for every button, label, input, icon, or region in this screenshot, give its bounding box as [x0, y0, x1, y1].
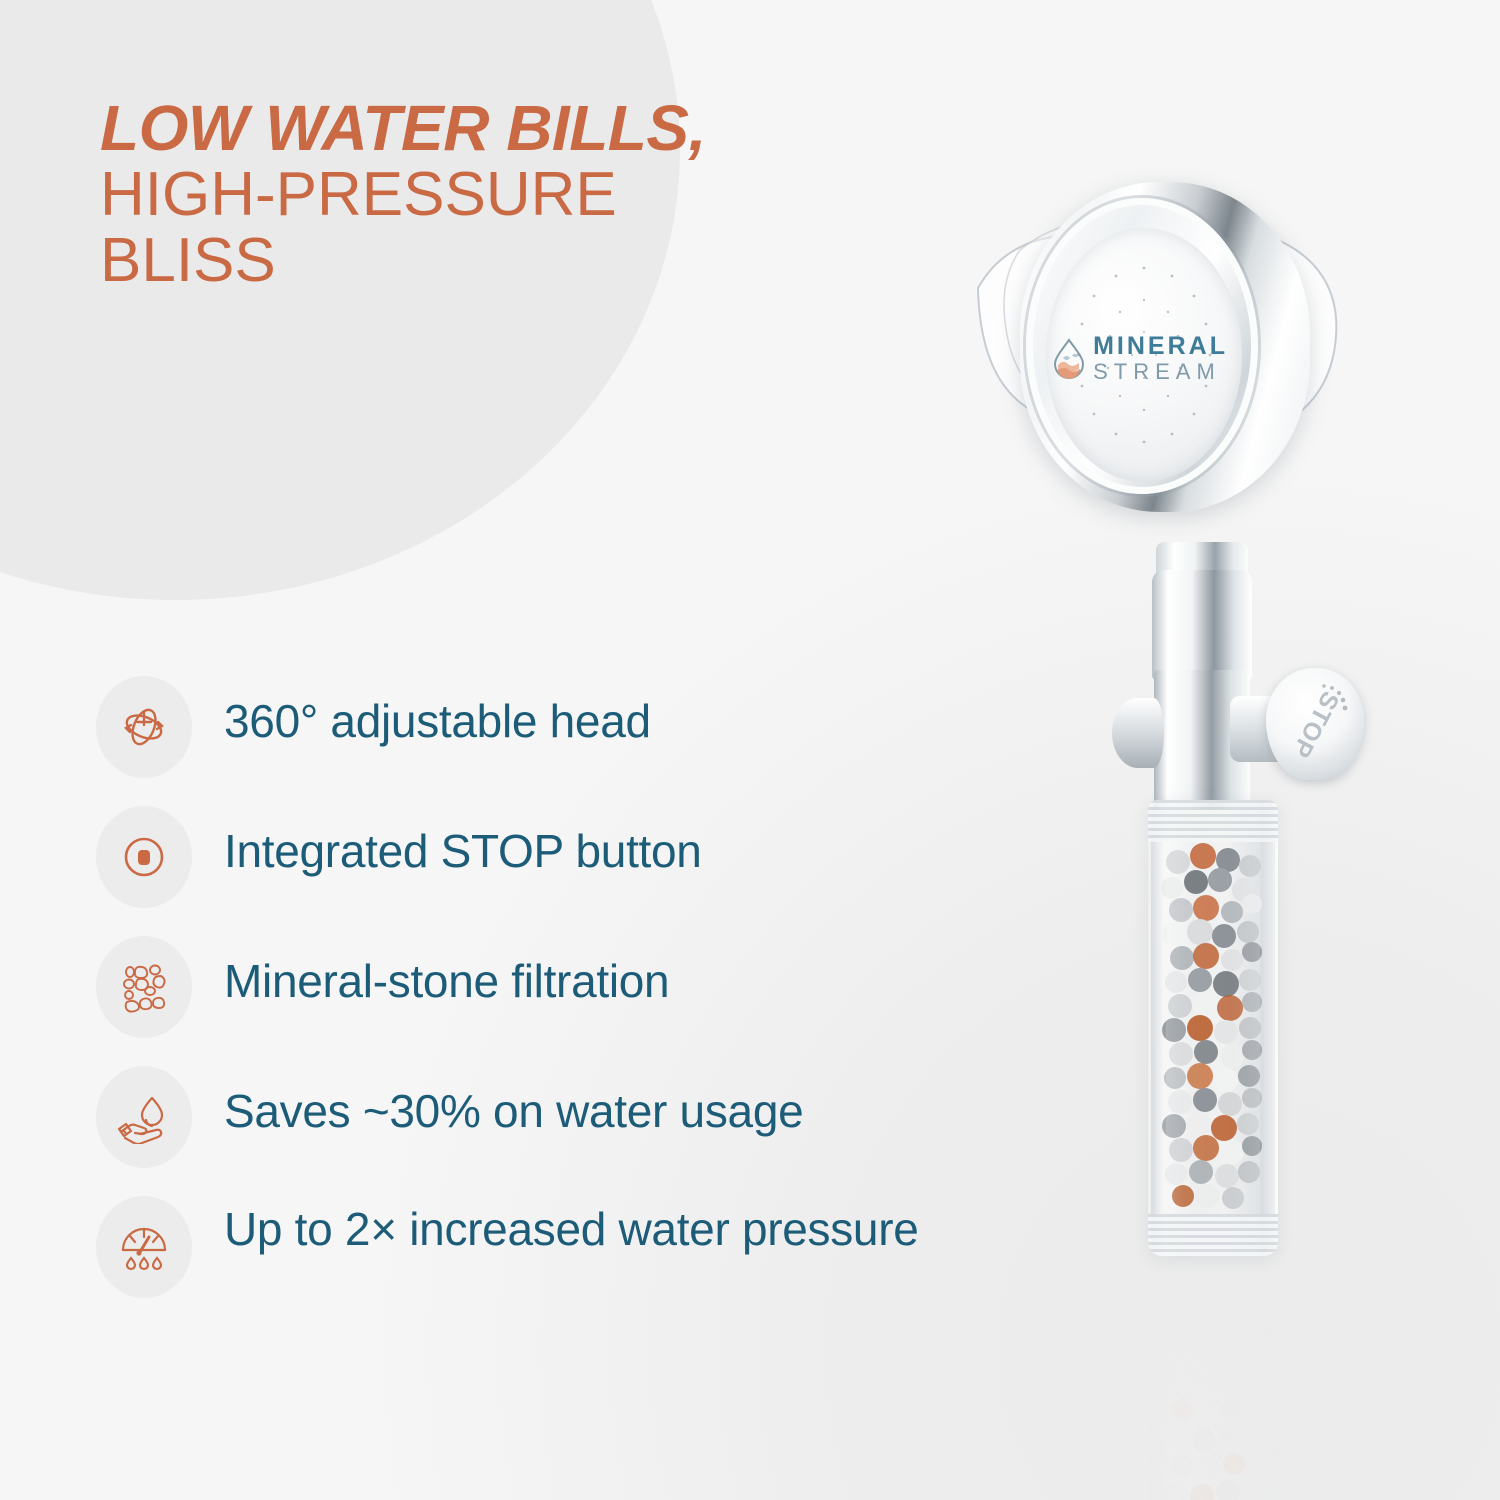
brand-logo-text: MINERAL STREAM: [1093, 334, 1228, 383]
brand-name-line-1: MINERAL: [1093, 334, 1228, 359]
pressure-gauge-icon: [96, 1196, 192, 1298]
infographic-canvas: LOW WATER BILLS, HIGH-PRESSURE BLISS 360…: [0, 0, 1500, 1500]
chamber-threads-bottom: [1148, 1214, 1278, 1256]
product-reflection: [1148, 1268, 1278, 1500]
chamber-threads-top: [1148, 800, 1278, 842]
brand-name-line-2: STREAM: [1093, 361, 1228, 383]
mineral-beads: [1148, 800, 1278, 1256]
brand-logo: MINERAL STREAM: [1052, 334, 1228, 383]
stop-button-dots-icon: [1318, 682, 1352, 716]
headline-line-1: LOW WATER BILLS,: [100, 96, 820, 160]
stop-button[interactable]: STOP: [1266, 668, 1364, 780]
shower-head-face-plate: MINERAL STREAM: [1046, 228, 1242, 482]
reflection-glass: [1148, 1268, 1278, 1500]
hand-water-drop-icon: [96, 1066, 192, 1168]
stop-button-icon: [96, 806, 192, 908]
headline-line-2: HIGH-PRESSURE: [100, 164, 820, 226]
chrome-neck: [1152, 570, 1252, 680]
shower-head: MINERAL STREAM: [1020, 182, 1320, 542]
page-title: LOW WATER BILLS, HIGH-PRESSURE BLISS: [100, 96, 820, 292]
mineral-stones-icon: [96, 936, 192, 1038]
shower-head-ring: MINERAL STREAM: [1026, 198, 1258, 494]
headline-line-3: BLISS: [100, 230, 820, 292]
mineral-filter-chamber: [1148, 800, 1278, 1256]
water-drop-stones-logo: [1052, 338, 1086, 380]
product-image: MINERAL STREAM STOP: [900, 150, 1460, 1500]
rotation-360-icon: [96, 676, 192, 778]
side-nub: [1112, 698, 1164, 768]
